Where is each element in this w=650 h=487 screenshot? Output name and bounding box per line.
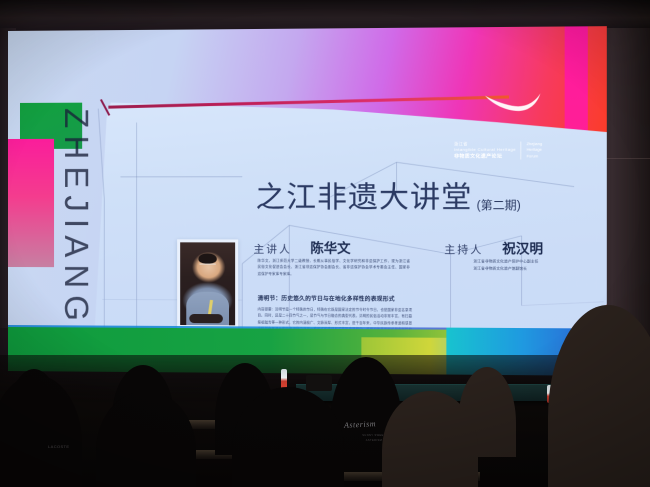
speaker-role-label: 主讲人 bbox=[254, 241, 292, 256]
audience-head bbox=[96, 391, 196, 487]
slide-title: 之江非遗大讲堂 (第二期) bbox=[256, 173, 521, 216]
slide-title-main: 之江非遗大讲堂 bbox=[256, 173, 473, 216]
speaker-name: 陈华文 bbox=[310, 238, 350, 257]
portrait-hair bbox=[199, 253, 217, 264]
organization-logo: 浙江省 Intangible Cultural Heritage 非物质文化遗产… bbox=[453, 142, 541, 161]
speaker-credit: 主讲人 陈华文 bbox=[254, 237, 445, 257]
projection-screen: ZHEJIANG 浙江省 Intangible Cultural Heritag… bbox=[8, 26, 607, 376]
host-name: 祝汉明 bbox=[502, 238, 543, 258]
logo-cn-line2: Intangible Cultural Heritage bbox=[453, 148, 515, 154]
speaker-photo bbox=[180, 242, 235, 325]
lecture-topic: 清明节：历史悠久的节日与在地化多样性的表现形式 bbox=[258, 294, 428, 303]
brand-vertical-text: ZHEJIANG bbox=[57, 88, 95, 349]
speaker-bio: 陈华文，浙江师范大学二级教授，长期从事民俗学、文化学研究和非遗保护工作，现为浙江… bbox=[258, 258, 410, 278]
ceiling bbox=[0, 0, 650, 30]
host-affiliation: 浙江省非物质文化遗产保护中心副主任 浙江省非物质文化遗产馆副馆长 bbox=[473, 258, 582, 273]
logo-cn-line3: 非物质文化遗产论坛 bbox=[453, 154, 515, 161]
host-role-label: 主持人 bbox=[444, 242, 483, 257]
host-credit: 主持人 祝汉明 bbox=[444, 238, 543, 258]
logo-en-line3: Forum bbox=[526, 153, 542, 159]
logo-en-line2: Heritage bbox=[526, 147, 542, 153]
decor-pink-block bbox=[8, 139, 54, 267]
hoodie-graphic-text: Asterism bbox=[344, 419, 376, 430]
swoosh-icon bbox=[483, 90, 542, 115]
slide-title-suffix: (第二期) bbox=[477, 197, 521, 216]
presenter-chair bbox=[306, 375, 332, 391]
foreground-stage: Asterism SUNNY SWEET ASTERISM LACOSTE bbox=[0, 355, 650, 487]
host-affiliation-line2: 浙江省非物质文化遗产馆副馆长 bbox=[473, 265, 582, 273]
audience-head bbox=[0, 375, 82, 487]
cap-logo-text: LACOSTE bbox=[48, 444, 69, 449]
credits-row: 主讲人 陈华文 主持人 祝汉明 bbox=[254, 237, 586, 257]
portrait-arms bbox=[189, 314, 223, 323]
speaker-portrait bbox=[177, 239, 238, 328]
lecture-hall-photo: ZHEJIANG 浙江省 Intangible Cultural Heritag… bbox=[0, 0, 650, 487]
portrait-glasses bbox=[200, 264, 215, 268]
